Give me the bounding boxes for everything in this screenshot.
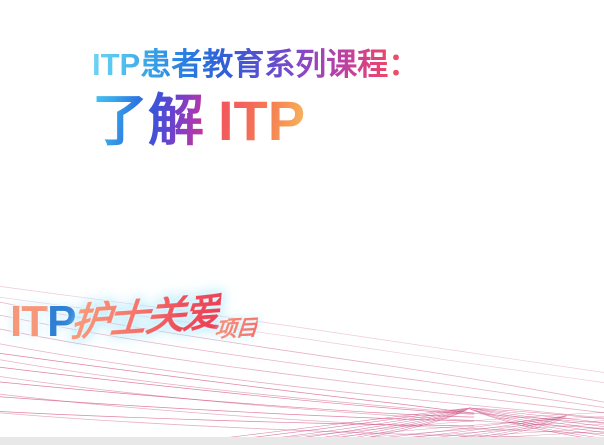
bottom-edge-strip [0,437,604,445]
slide-canvas: ITP患者教育系列课程： 了解ITP ITP 护士关爱 项目 [0,0,604,445]
course-series-subtitle: ITP患者教育系列课程： [92,48,562,82]
main-title-chinese: 了解 [92,89,204,152]
logo-script-text: 护士关爱 [69,293,222,343]
logo-suffix-text: 项目 [214,317,258,341]
title-block: ITP患者教育系列课程： 了解ITP [92,48,562,153]
logo-itp-lettermark: ITP [10,300,75,344]
main-title-english: ITP [218,89,305,152]
logo-itp-it: IT [10,297,47,346]
main-title: 了解ITP [92,90,562,153]
program-logo: ITP 护士关爱 项目 [10,300,257,344]
